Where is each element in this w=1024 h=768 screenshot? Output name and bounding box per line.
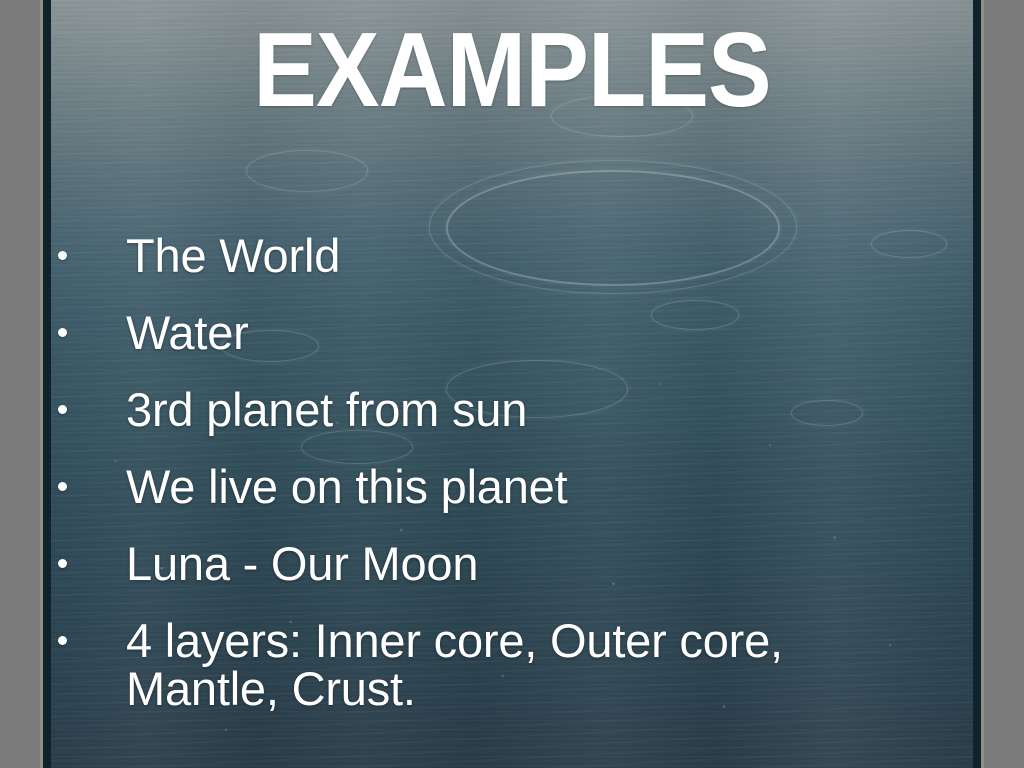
bullet-marker-icon	[58, 405, 67, 414]
list-item-label: 4 layers: Inner core, Outer core, Mantle…	[126, 617, 916, 713]
bullet-marker-icon	[58, 251, 67, 260]
list-item[interactable]: Water	[51, 309, 916, 357]
list-item[interactable]: The World	[51, 232, 916, 280]
bullet-marker-icon	[58, 559, 67, 568]
list-item[interactable]: 3rd planet from sun	[51, 386, 916, 434]
bullet-marker-icon	[58, 328, 67, 337]
slide-edge-rule-right	[981, 0, 984, 768]
list-item-label: The World	[126, 232, 916, 280]
list-item[interactable]: We live on this planet	[51, 463, 916, 511]
slide-content: EXAMPLES The World Water 3rd planet from…	[51, 0, 973, 768]
list-item[interactable]: Luna - Our Moon	[51, 540, 916, 588]
presentation-viewer: EXAMPLES The World Water 3rd planet from…	[0, 0, 1024, 768]
list-item-label: Luna - Our Moon	[126, 540, 916, 588]
bullet-list: The World Water 3rd planet from sun We l…	[51, 232, 973, 742]
list-item[interactable]: 4 layers: Inner core, Outer core, Mantle…	[51, 617, 916, 713]
slide-title: EXAMPLES	[97, 18, 927, 122]
bullet-marker-icon	[58, 636, 67, 645]
list-item-label: We live on this planet	[126, 463, 916, 511]
slide-frame-bar-right	[973, 0, 981, 768]
slide[interactable]: EXAMPLES The World Water 3rd planet from…	[51, 0, 973, 768]
slide-frame-bar-left	[43, 0, 51, 768]
list-item-label: 3rd planet from sun	[126, 386, 916, 434]
list-item-label: Water	[126, 309, 916, 357]
bullet-marker-icon	[58, 482, 67, 491]
